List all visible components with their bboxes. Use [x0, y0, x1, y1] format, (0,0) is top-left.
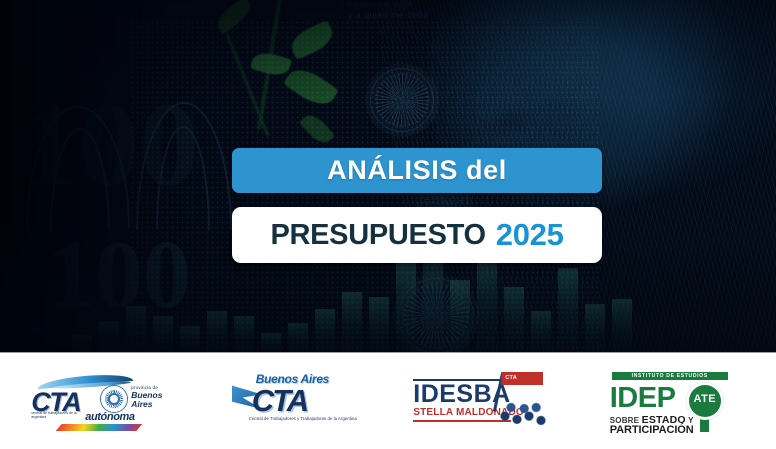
- province-big-2: Aires: [131, 400, 162, 409]
- idep-acronym: IDEP: [610, 382, 676, 415]
- protest-banner-icon: CTA: [501, 372, 543, 385]
- cta-ba-tagline: Central de Trabajadores y Trabajadoras d…: [244, 416, 362, 421]
- province-label: provincia de Buenos Aires: [131, 386, 162, 409]
- cta-autonoma-tagline: central de trabajadores de la argentina: [31, 411, 87, 420]
- gear-icon: [101, 386, 127, 412]
- title-band-presupuesto: PRESUPUESTO 2025: [232, 207, 602, 263]
- cta-acronym: CTA: [252, 383, 307, 419]
- title-band-analisis: ANÁLISIS del: [232, 148, 602, 193]
- autonoma-word: autónoma: [85, 411, 134, 423]
- idep-line-3: PARTICIPACIÓN: [610, 424, 694, 436]
- title-line-2-main: PRESUPUESTO: [270, 219, 485, 252]
- idep-topbar: INSTITUTO DE ESTUDIOS: [612, 372, 728, 380]
- rainbow-stripe-icon: [56, 424, 143, 431]
- banner-label: CTA: [505, 375, 517, 381]
- logo-cta-autonoma[interactable]: CTA provincia de Buenos Aires autónoma c…: [23, 370, 183, 432]
- poster-canvas: y a quien me debo y a quien me debo 100 …: [0, 0, 776, 449]
- logo-idesba[interactable]: IDESBA STELLA MALDONADO CTA: [411, 370, 561, 432]
- footer-logo-bar: CTA provincia de Buenos Aires autónoma c…: [0, 353, 776, 449]
- idep-top-label: INSTITUTO DE ESTUDIOS: [612, 373, 728, 379]
- ate-label: ATE: [686, 393, 724, 405]
- title-line-2-year: 2025: [496, 217, 564, 253]
- logo-cta-buenos-aires[interactable]: Buenos Aires CTA Central de Trabajadores…: [230, 370, 365, 432]
- title-line-1: ANÁLISIS del: [327, 155, 507, 186]
- logo-idep[interactable]: INSTITUTO DE ESTUDIOS IDEP ATE SOBRE EST…: [608, 370, 753, 432]
